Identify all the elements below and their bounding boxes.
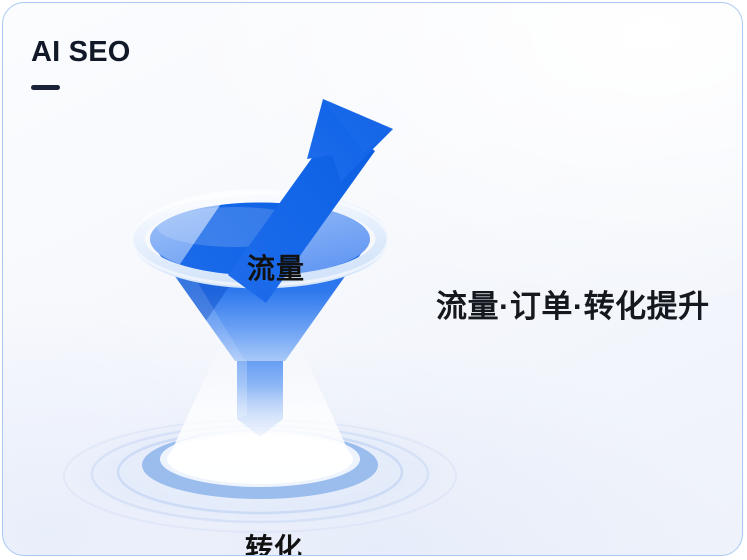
funnel-label-traffic: 流量 [247, 247, 305, 287]
slide-card: AI SEO 流量·订单·转化提升 [2, 2, 743, 556]
funnel-illustration: 流量 转化 [23, 93, 503, 543]
screenshot-canvas: AI SEO 流量·订单·转化提升 [0, 0, 747, 560]
funnel-label-conversion: 转化 [245, 527, 303, 556]
title-underline-accent [31, 85, 60, 90]
page-title: AI SEO [31, 37, 131, 69]
